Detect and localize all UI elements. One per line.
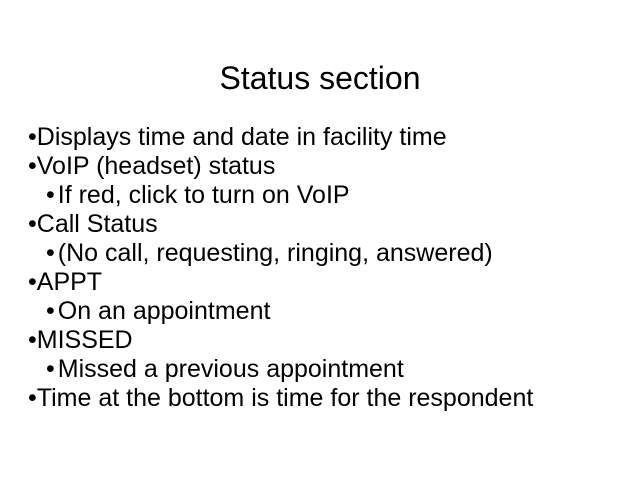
page-title: Status section [0, 59, 640, 97]
bullet-point-icon: • [28, 210, 37, 239]
bullet-point-icon: • [28, 152, 37, 181]
bullet-item: •Call Status [28, 210, 628, 239]
bullet-item: •If red, click to turn on VoIP [28, 181, 628, 210]
bullet-item: •Time at the bottom is time for the resp… [28, 384, 628, 413]
bullet-item-label: Displays time and date in facility time [37, 123, 447, 151]
bullet-point-icon: • [46, 181, 55, 210]
bullet-item-label: APPT [37, 268, 102, 296]
bullet-item-label: Time at the bottom is time for the respo… [37, 384, 534, 412]
bullet-point-icon: • [46, 239, 55, 268]
bullet-point-icon: • [46, 355, 55, 384]
bullet-item-label: MISSED [37, 326, 133, 354]
bullet-item-label: VoIP (headset) status [37, 152, 276, 180]
bullet-point-icon: • [46, 297, 55, 326]
slide-canvas: Status section •Displays time and date i… [0, 0, 640, 480]
bullet-item: •APPT [28, 268, 628, 297]
bullet-item-label: Missed a previous appointment [58, 355, 404, 383]
bullet-item-label: On an appointment [58, 297, 271, 325]
bullet-point-icon: • [28, 268, 37, 297]
bullet-point-icon: • [28, 326, 37, 355]
bullet-item-label: If red, click to turn on VoIP [58, 181, 350, 209]
bullet-point-icon: • [28, 123, 37, 152]
bullet-item: •(No call, requesting, ringing, answered… [28, 239, 628, 268]
bullet-item: •MISSED [28, 326, 628, 355]
bullet-item: •Displays time and date in facility time [28, 123, 628, 152]
bullet-item-label: (No call, requesting, ringing, answered) [58, 239, 493, 267]
bullet-item: •On an appointment [28, 297, 628, 326]
bullet-point-icon: • [28, 384, 37, 413]
bullet-item: •Missed a previous appointment [28, 355, 628, 384]
bullet-item: •VoIP (headset) status [28, 152, 628, 181]
bullet-list: •Displays time and date in facility time… [28, 123, 628, 413]
bullet-item-label: Call Status [37, 210, 158, 238]
